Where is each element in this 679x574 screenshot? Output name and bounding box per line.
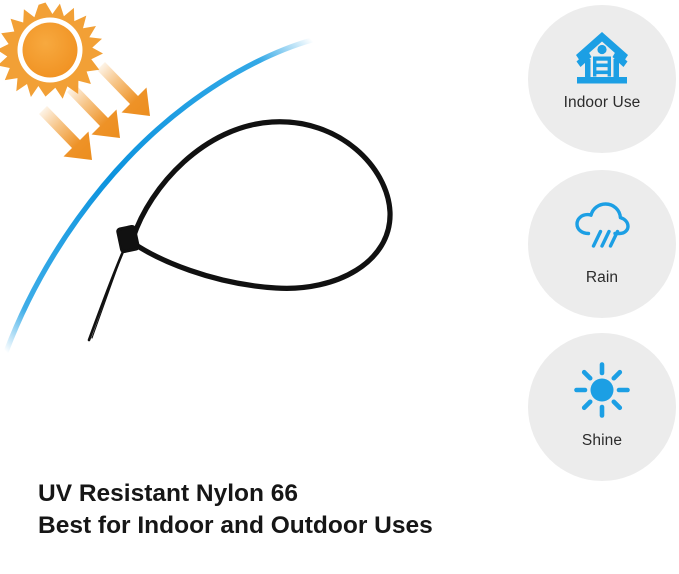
sun-burst-icon bbox=[0, 3, 103, 99]
house-icon bbox=[571, 27, 633, 89]
caption-line-2: Best for Indoor and Outdoor Uses bbox=[38, 510, 508, 542]
caption-line-1: UV Resistant Nylon 66 bbox=[38, 478, 508, 510]
sun-shine-icon bbox=[571, 359, 633, 421]
badge-label: Rain bbox=[586, 270, 618, 286]
badge-indoor-use[interactable]: Indoor Use bbox=[528, 5, 676, 153]
feature-badge-column: Indoor Use Rain bbox=[528, 0, 679, 490]
badge-shine[interactable]: Shine bbox=[528, 333, 676, 481]
badge-label: Shine bbox=[582, 433, 622, 449]
uv-resistance-illustration bbox=[0, 0, 510, 470]
badge-rain[interactable]: Rain bbox=[528, 170, 676, 318]
caption-block: UV Resistant Nylon 66 Best for Indoor an… bbox=[38, 478, 508, 542]
rain-cloud-icon bbox=[571, 196, 633, 258]
uv-ray-arrow bbox=[97, 62, 150, 116]
footnote-text bbox=[96, 560, 496, 573]
badge-label: Indoor Use bbox=[564, 95, 641, 111]
uv-ray-arrow bbox=[67, 84, 120, 138]
uv-ray-arrow bbox=[39, 106, 92, 160]
product-feature-graphic: Indoor Use Rain bbox=[0, 0, 679, 574]
